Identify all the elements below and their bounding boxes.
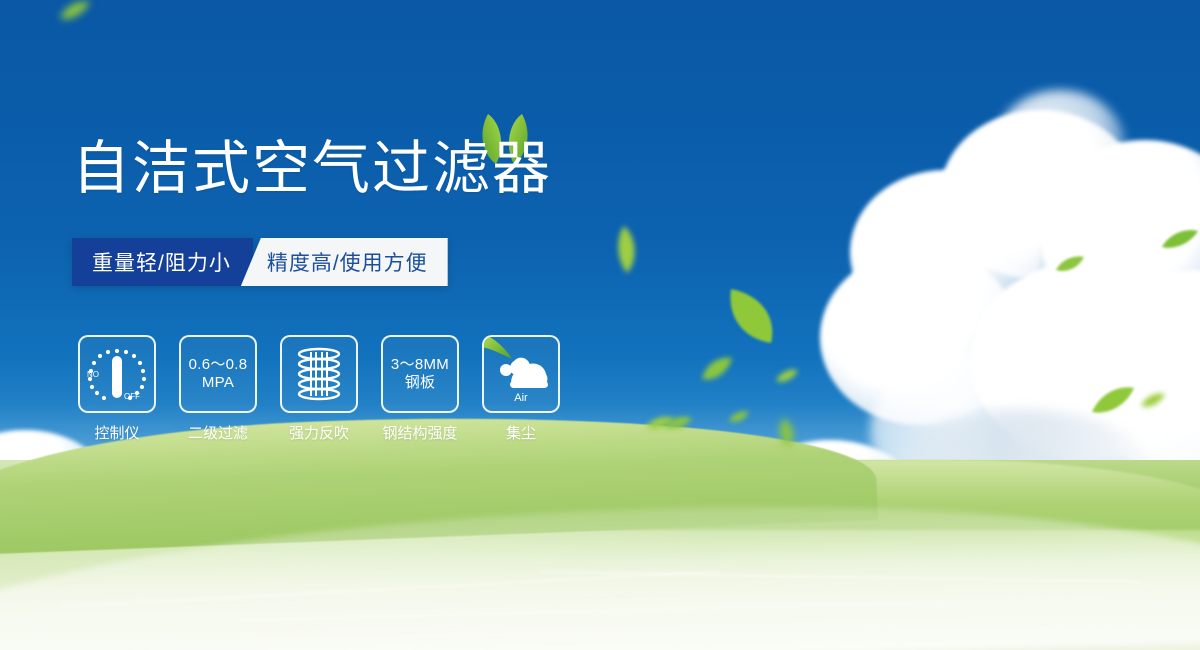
- floating-leaf: [615, 225, 641, 275]
- feature-label: 集尘: [506, 422, 536, 443]
- pressure-unit-text: MPA: [189, 374, 248, 392]
- floating-leaf: [1160, 228, 1200, 250]
- feature-icon-box: [280, 335, 358, 413]
- steel-plate-icon: 3～8MM 钢板: [391, 356, 449, 391]
- subtitle-left-segment: 重量轻/阻力小: [72, 238, 253, 286]
- feature-list: NO OFF 控制仪 0.6～0.8 MPA 二级过滤: [78, 335, 560, 443]
- gauge-no-label: NO: [87, 370, 99, 379]
- gauge-off-label: OFF: [124, 392, 140, 401]
- grass-field: [0, 460, 1200, 650]
- feature-icon-box: Air: [482, 335, 560, 413]
- feature-label: 控制仪: [94, 422, 139, 443]
- floating-leaf: [700, 355, 734, 383]
- floating-leaf: [1055, 255, 1085, 273]
- floating-leaf: [725, 285, 779, 347]
- feature-icon-box: NO OFF: [78, 335, 156, 413]
- feature-label: 二级过滤: [188, 422, 248, 443]
- steel-plate-text: 钢板: [391, 374, 449, 392]
- subtitle-left-text: 重量轻/阻力小: [92, 247, 231, 277]
- floating-leaf: [775, 368, 799, 384]
- feature-item[interactable]: 3～8MM 钢板 钢结构强度: [381, 335, 459, 443]
- feature-icon-box: 0.6～0.8 MPA: [179, 335, 257, 413]
- feature-label: 强力反吹: [289, 422, 349, 443]
- floating-leaf: [1140, 392, 1166, 410]
- filter-cartridge-icon: [290, 345, 348, 403]
- product-hero-banner: 自洁式空气过滤器 重量轻/阻力小 精度高/使用方便: [0, 0, 1200, 650]
- floating-leaf: [728, 410, 750, 424]
- pressure-value-icon: 0.6～0.8 MPA: [189, 356, 248, 391]
- feature-icon-box: 3～8MM 钢板: [381, 335, 459, 413]
- air-cloud-icon: Air: [484, 337, 558, 411]
- pressure-range-text: 0.6～0.8: [189, 356, 248, 373]
- floating-leaf: [58, 0, 92, 22]
- floating-leaf: [1090, 385, 1136, 415]
- air-label: Air: [514, 392, 528, 404]
- feature-item[interactable]: Air 集尘: [482, 335, 560, 443]
- subtitle-bar: 重量轻/阻力小 精度高/使用方便: [72, 238, 448, 286]
- feature-item[interactable]: 强力反吹: [280, 335, 358, 443]
- subtitle-right-text: 精度高/使用方便: [267, 247, 428, 277]
- gauge-dial-icon: NO OFF: [84, 343, 150, 405]
- steel-thickness-text: 3～8MM: [391, 356, 449, 373]
- feature-label: 钢结构强度: [382, 422, 457, 443]
- page-title: 自洁式空气过滤器: [72, 140, 552, 198]
- feature-item[interactable]: 0.6～0.8 MPA 二级过滤: [179, 335, 257, 443]
- feature-item[interactable]: NO OFF 控制仪: [78, 335, 156, 443]
- subtitle-right-segment: 精度高/使用方便: [241, 238, 448, 286]
